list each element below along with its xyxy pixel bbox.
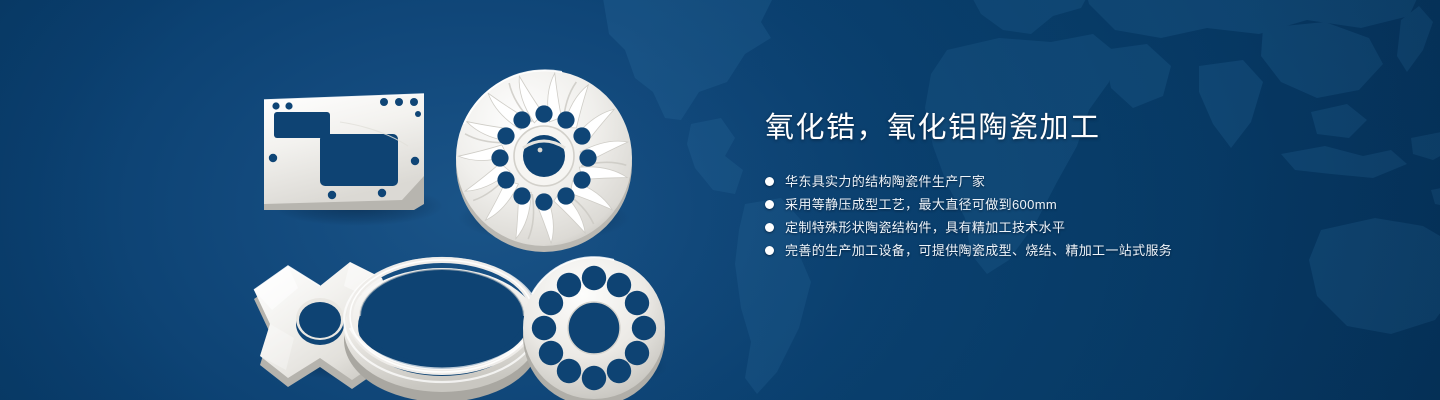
list-item-label: 定制特殊形状陶瓷结构件，具有精加工技术水平	[785, 216, 1065, 239]
list-item-label: 华东具实力的结构陶瓷件生产厂家	[785, 170, 985, 193]
list-item-label: 完善的生产加工设备，可提供陶瓷成型、烧结、精加工一站式服务	[785, 239, 1172, 262]
banner-copy: 氧化锆，氧化铝陶瓷加工 华东具实力的结构陶瓷件生产厂家 采用等静压成型工艺，最大…	[765, 108, 1325, 262]
page-title: 氧化锆，氧化铝陶瓷加工	[765, 108, 1325, 148]
list-item: 华东具实力的结构陶瓷件生产厂家	[765, 170, 1325, 193]
promotional-banner: 氧化锆，氧化铝陶瓷加工 华东具实力的结构陶瓷件生产厂家 采用等静压成型工艺，最大…	[0, 0, 1440, 400]
list-item: 定制特殊形状陶瓷结构件，具有精加工技术水平	[765, 216, 1325, 239]
list-item: 采用等静压成型工艺，最大直径可做到600mm	[765, 193, 1325, 216]
bullet-dot-icon	[765, 223, 774, 232]
list-item: 完善的生产加工设备，可提供陶瓷成型、烧结、精加工一站式服务	[765, 239, 1325, 262]
list-item-label: 采用等静压成型工艺，最大直径可做到600mm	[785, 193, 1057, 216]
feature-list: 华东具实力的结构陶瓷件生产厂家 采用等静压成型工艺，最大直径可做到600mm 定…	[765, 170, 1325, 262]
bullet-dot-icon	[765, 200, 774, 209]
bullet-dot-icon	[765, 246, 774, 255]
bullet-dot-icon	[765, 177, 774, 186]
